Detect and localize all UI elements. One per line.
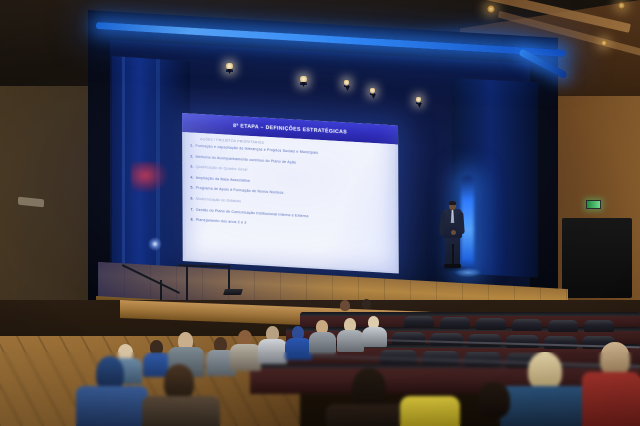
slide-body: AÇÕES / PROJETOS PRIORITÁRIOS 1. Formaçã… — [185, 132, 396, 271]
stage-spotlight-icon — [416, 97, 421, 104]
audience-head-foreground — [96, 356, 124, 390]
slide-item-text: Melhoria do Acompanhamento contínuo do P… — [196, 154, 297, 164]
slide-item-number: 7. — [190, 207, 193, 211]
seat — [404, 316, 434, 328]
seat — [440, 317, 470, 329]
audience-red-shirt — [582, 372, 640, 426]
auditorium-photo: 8ª ETAPA – DEFINIÇÕES ESTRATÉGICAS AÇÕES… — [0, 0, 640, 426]
audience-head-foreground — [600, 342, 630, 376]
seat — [468, 334, 501, 347]
audience-shoulders-foreground — [142, 396, 220, 426]
audience-head — [340, 300, 350, 311]
audience-shoulders — [309, 332, 336, 354]
slide-item-number: 4. — [190, 175, 193, 179]
seat — [506, 335, 539, 348]
seat — [476, 318, 506, 330]
audience-yellow-top — [400, 396, 460, 426]
slide-item-number: 3. — [190, 165, 193, 169]
slide-item-text: Programa de Apoio à Formação de Novos Nú… — [196, 186, 284, 195]
floor-monitor — [223, 289, 243, 295]
audience-shoulders-foreground — [76, 386, 148, 426]
seat — [548, 320, 578, 332]
seat — [512, 319, 542, 331]
slide-item-text: Qualificação do Quadro Geral — [196, 165, 248, 172]
presenter-leg-gap — [452, 244, 454, 265]
handrail-post — [160, 280, 162, 302]
slide-item-text: Ampliação da Base Associativa — [196, 176, 250, 183]
stage-spotlight-icon — [344, 80, 349, 87]
pa-speaker-cabinet — [562, 218, 632, 298]
seat — [430, 333, 463, 346]
stage-spotlight-icon — [226, 63, 233, 72]
slide-item-number: 8. — [191, 218, 194, 222]
slide-item-text: Modernização do Estatuto — [196, 197, 241, 204]
slide-item-number: 2. — [190, 154, 193, 158]
audience-head-foreground — [528, 352, 562, 390]
audience-head-foreground — [478, 382, 510, 418]
audience-shoulders — [337, 330, 364, 352]
curtain-light-sparkle — [148, 237, 162, 251]
seat — [544, 336, 577, 349]
stage-spotlight-icon — [370, 88, 375, 95]
slide-item-number: 6. — [190, 196, 193, 200]
slide-title: 8ª ETAPA – DEFINIÇÕES ESTRATÉGICAS — [233, 122, 347, 135]
slide-surface: 8ª ETAPA – DEFINIÇÕES ESTRATÉGICAS AÇÕES… — [182, 113, 399, 274]
audience-shoulders-foreground — [500, 386, 592, 426]
projected-logo-left — [131, 162, 167, 192]
slide-item-text: Gestão do Plano de Comunicação Instituci… — [196, 207, 309, 217]
slide-item-number: 5. — [190, 186, 193, 190]
exit-sign-icon — [586, 200, 601, 209]
audience-head-foreground — [164, 364, 194, 400]
ceiling-lamp-icon — [487, 5, 495, 13]
slide-item-number: 1. — [190, 143, 193, 147]
audience-shoulders — [285, 338, 312, 360]
presenter-hair — [449, 201, 456, 205]
projection-screen: 8ª ETAPA – DEFINIÇÕES ESTRATÉGICAS AÇÕES… — [182, 113, 399, 274]
audience-shoulders — [230, 344, 261, 371]
seat — [584, 320, 614, 332]
ceiling-lamp-icon — [618, 2, 625, 9]
handrail-post — [186, 266, 188, 300]
ceiling-lamp-icon — [601, 40, 607, 46]
seat — [392, 332, 425, 345]
stage-spotlight-icon — [300, 76, 307, 85]
presenter-shoes — [444, 264, 461, 268]
audience-shoulders — [362, 327, 387, 347]
slide-item-text: Planejamento dos anos 2 e 3 — [196, 218, 247, 225]
audience-shoulders — [258, 339, 287, 364]
audience-head — [362, 299, 371, 309]
presenter-hand — [451, 230, 456, 235]
